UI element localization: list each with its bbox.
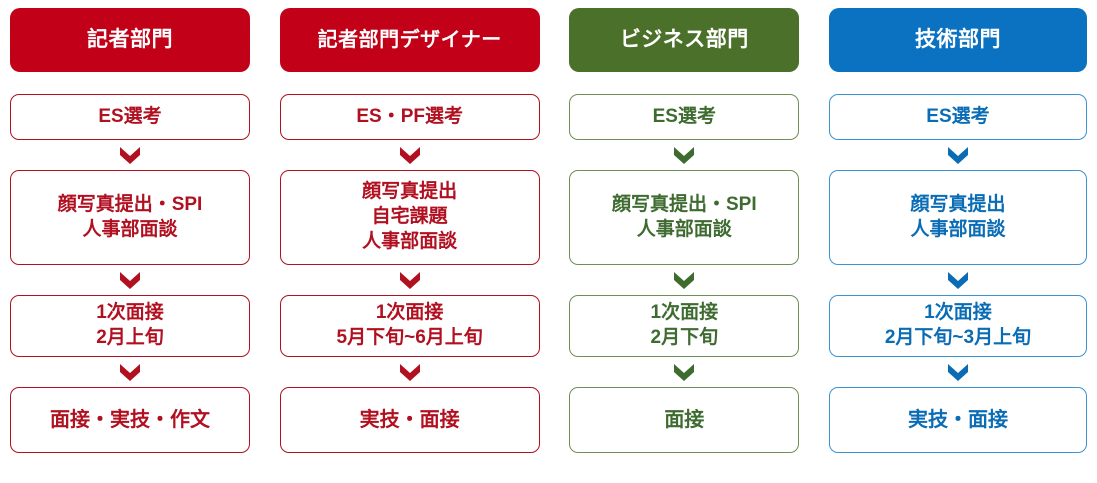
flow-step-line: 5月下旬~6月上旬 bbox=[337, 326, 483, 351]
flow-arrow bbox=[829, 357, 1087, 387]
flow-step-line: 人事部面談 bbox=[910, 218, 1005, 243]
column-header-reporter-designer: 記者部門デザイナー bbox=[280, 8, 540, 72]
header-spacer bbox=[829, 72, 1087, 94]
header-spacer bbox=[569, 72, 799, 94]
flow-step-line: ES・PF選考 bbox=[356, 105, 463, 130]
chevron-down-icon bbox=[947, 271, 969, 290]
flow-column-reporter-designer: 記者部門デザイナーES・PF選考顔写真提出自宅課題人事部面談1次面接5月下旬~6… bbox=[280, 8, 540, 453]
flow-step-technology-final: 実技・面接 bbox=[829, 387, 1087, 453]
chevron-down-icon bbox=[399, 271, 421, 290]
flow-step-reporter-documents: 顔写真提出・SPI人事部面談 bbox=[10, 170, 250, 265]
flow-arrow bbox=[10, 265, 250, 295]
flow-arrow bbox=[10, 140, 250, 170]
flow-arrow bbox=[280, 265, 540, 295]
flow-step-line: 2月上旬 bbox=[96, 326, 164, 351]
flow-arrow bbox=[10, 357, 250, 387]
flow-step-technology-es: ES選考 bbox=[829, 94, 1087, 140]
flow-step-business-first-interview: 1次面接2月下旬 bbox=[569, 295, 799, 357]
chevron-down-icon bbox=[119, 146, 141, 165]
selection-flow-diagram: 記者部門ES選考顔写真提出・SPI人事部面談1次面接2月上旬面接・実技・作文記者… bbox=[0, 0, 1097, 483]
flow-arrow bbox=[829, 140, 1087, 170]
flow-step-line: 実技・面接 bbox=[360, 407, 460, 433]
flow-step-line: 自宅課題 bbox=[372, 205, 448, 230]
chevron-down-icon bbox=[399, 146, 421, 165]
flow-step-line: 2月下旬 bbox=[651, 326, 719, 351]
column-header-reporter: 記者部門 bbox=[10, 8, 250, 72]
flow-step-line: 人事部面談 bbox=[82, 218, 177, 243]
flow-step-reporter-first-interview: 1次面接2月上旬 bbox=[10, 295, 250, 357]
flow-step-line: 人事部面談 bbox=[637, 218, 732, 243]
flow-arrow bbox=[569, 265, 799, 295]
flow-arrow bbox=[280, 140, 540, 170]
flow-step-line: 実技・面接 bbox=[908, 407, 1008, 433]
flow-step-line: 人事部面談 bbox=[362, 230, 457, 255]
flow-step-line: 顔写真提出・SPI bbox=[612, 193, 757, 218]
flow-step-line: 顔写真提出・SPI bbox=[58, 193, 203, 218]
flow-step-reporter-designer-final: 実技・面接 bbox=[280, 387, 540, 453]
flow-step-line: ES選考 bbox=[926, 105, 989, 130]
flow-arrow bbox=[569, 140, 799, 170]
flow-step-technology-first-interview: 1次面接2月下旬~3月上旬 bbox=[829, 295, 1087, 357]
flow-column-reporter: 記者部門ES選考顔写真提出・SPI人事部面談1次面接2月上旬面接・実技・作文 bbox=[10, 8, 250, 453]
flow-step-line: 顔写真提出 bbox=[910, 193, 1005, 218]
flow-step-line: 面接 bbox=[664, 407, 704, 433]
flow-arrow bbox=[829, 265, 1087, 295]
flow-step-line: 顔写真提出 bbox=[362, 180, 457, 205]
flow-step-reporter-designer-first-interview: 1次面接5月下旬~6月上旬 bbox=[280, 295, 540, 357]
flow-column-technology: 技術部門ES選考顔写真提出人事部面談1次面接2月下旬~3月上旬実技・面接 bbox=[829, 8, 1087, 453]
header-spacer bbox=[280, 72, 540, 94]
flow-column-business: ビジネス部門ES選考顔写真提出・SPI人事部面談1次面接2月下旬面接 bbox=[569, 8, 799, 453]
flow-arrow bbox=[569, 357, 799, 387]
flow-step-line: 面接・実技・作文 bbox=[50, 407, 210, 433]
flow-step-line: 1次面接 bbox=[376, 301, 444, 326]
flow-step-line: 2月下旬~3月上旬 bbox=[885, 326, 1031, 351]
chevron-down-icon bbox=[947, 363, 969, 382]
flow-arrow bbox=[280, 357, 540, 387]
chevron-down-icon bbox=[673, 271, 695, 290]
flow-step-business-final: 面接 bbox=[569, 387, 799, 453]
flow-step-business-es: ES選考 bbox=[569, 94, 799, 140]
flow-step-line: ES選考 bbox=[98, 105, 161, 130]
chevron-down-icon bbox=[119, 363, 141, 382]
flow-step-reporter-es: ES選考 bbox=[10, 94, 250, 140]
flow-step-reporter-final: 面接・実技・作文 bbox=[10, 387, 250, 453]
flow-step-reporter-designer-es: ES・PF選考 bbox=[280, 94, 540, 140]
flow-step-line: 1次面接 bbox=[651, 301, 719, 326]
chevron-down-icon bbox=[119, 271, 141, 290]
flow-step-reporter-designer-documents: 顔写真提出自宅課題人事部面談 bbox=[280, 170, 540, 265]
chevron-down-icon bbox=[673, 146, 695, 165]
chevron-down-icon bbox=[673, 363, 695, 382]
flow-step-line: 1次面接 bbox=[96, 301, 164, 326]
column-header-technology: 技術部門 bbox=[829, 8, 1087, 72]
column-header-business: ビジネス部門 bbox=[569, 8, 799, 72]
chevron-down-icon bbox=[399, 363, 421, 382]
flow-step-line: 1次面接 bbox=[924, 301, 992, 326]
header-spacer bbox=[10, 72, 250, 94]
chevron-down-icon bbox=[947, 146, 969, 165]
flow-step-business-documents: 顔写真提出・SPI人事部面談 bbox=[569, 170, 799, 265]
flow-step-line: ES選考 bbox=[653, 105, 716, 130]
flow-step-technology-documents: 顔写真提出人事部面談 bbox=[829, 170, 1087, 265]
